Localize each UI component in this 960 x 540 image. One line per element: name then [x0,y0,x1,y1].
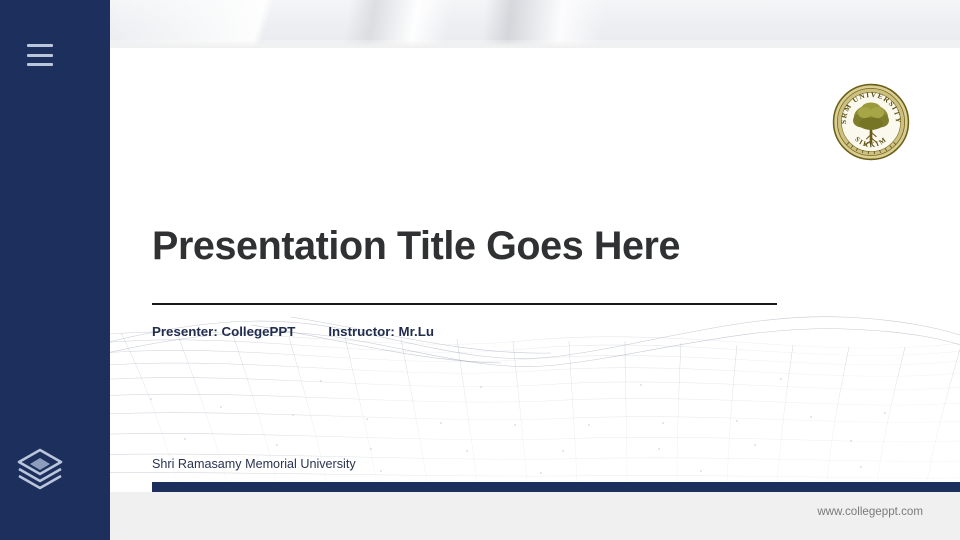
instructor-text: Instructor: Mr.Lu [328,324,434,339]
hamburger-icon[interactable] [27,44,53,66]
title-divider [152,303,777,305]
university-seal-icon: SRM UNIVERSITY SIKKIM [832,83,910,161]
slide-title[interactable]: Presentation Title Goes Here [152,226,852,267]
presenter-text: Presenter: CollegePPT [152,324,295,339]
slide-footer-bar [152,482,960,492]
website-url: www.collegeppt.com [110,505,960,518]
slide-subtitle[interactable]: Presenter: CollegePPTInstructor: Mr.Lu [152,324,434,339]
hamburger-line [27,54,53,57]
slide-canvas[interactable]: SRM UNIVERSITY SIKKIM Presentation Title… [81,48,960,492]
organization-name[interactable]: Shri Ramasamy Memorial University [152,457,356,471]
sidebar [0,0,110,540]
top-decoration-banner [110,0,960,47]
editor-canvas: SRM UNIVERSITY SIKKIM Presentation Title… [110,0,960,540]
hamburger-line [27,44,53,47]
hamburger-line [27,63,53,66]
layers-stack-icon[interactable] [14,443,66,495]
